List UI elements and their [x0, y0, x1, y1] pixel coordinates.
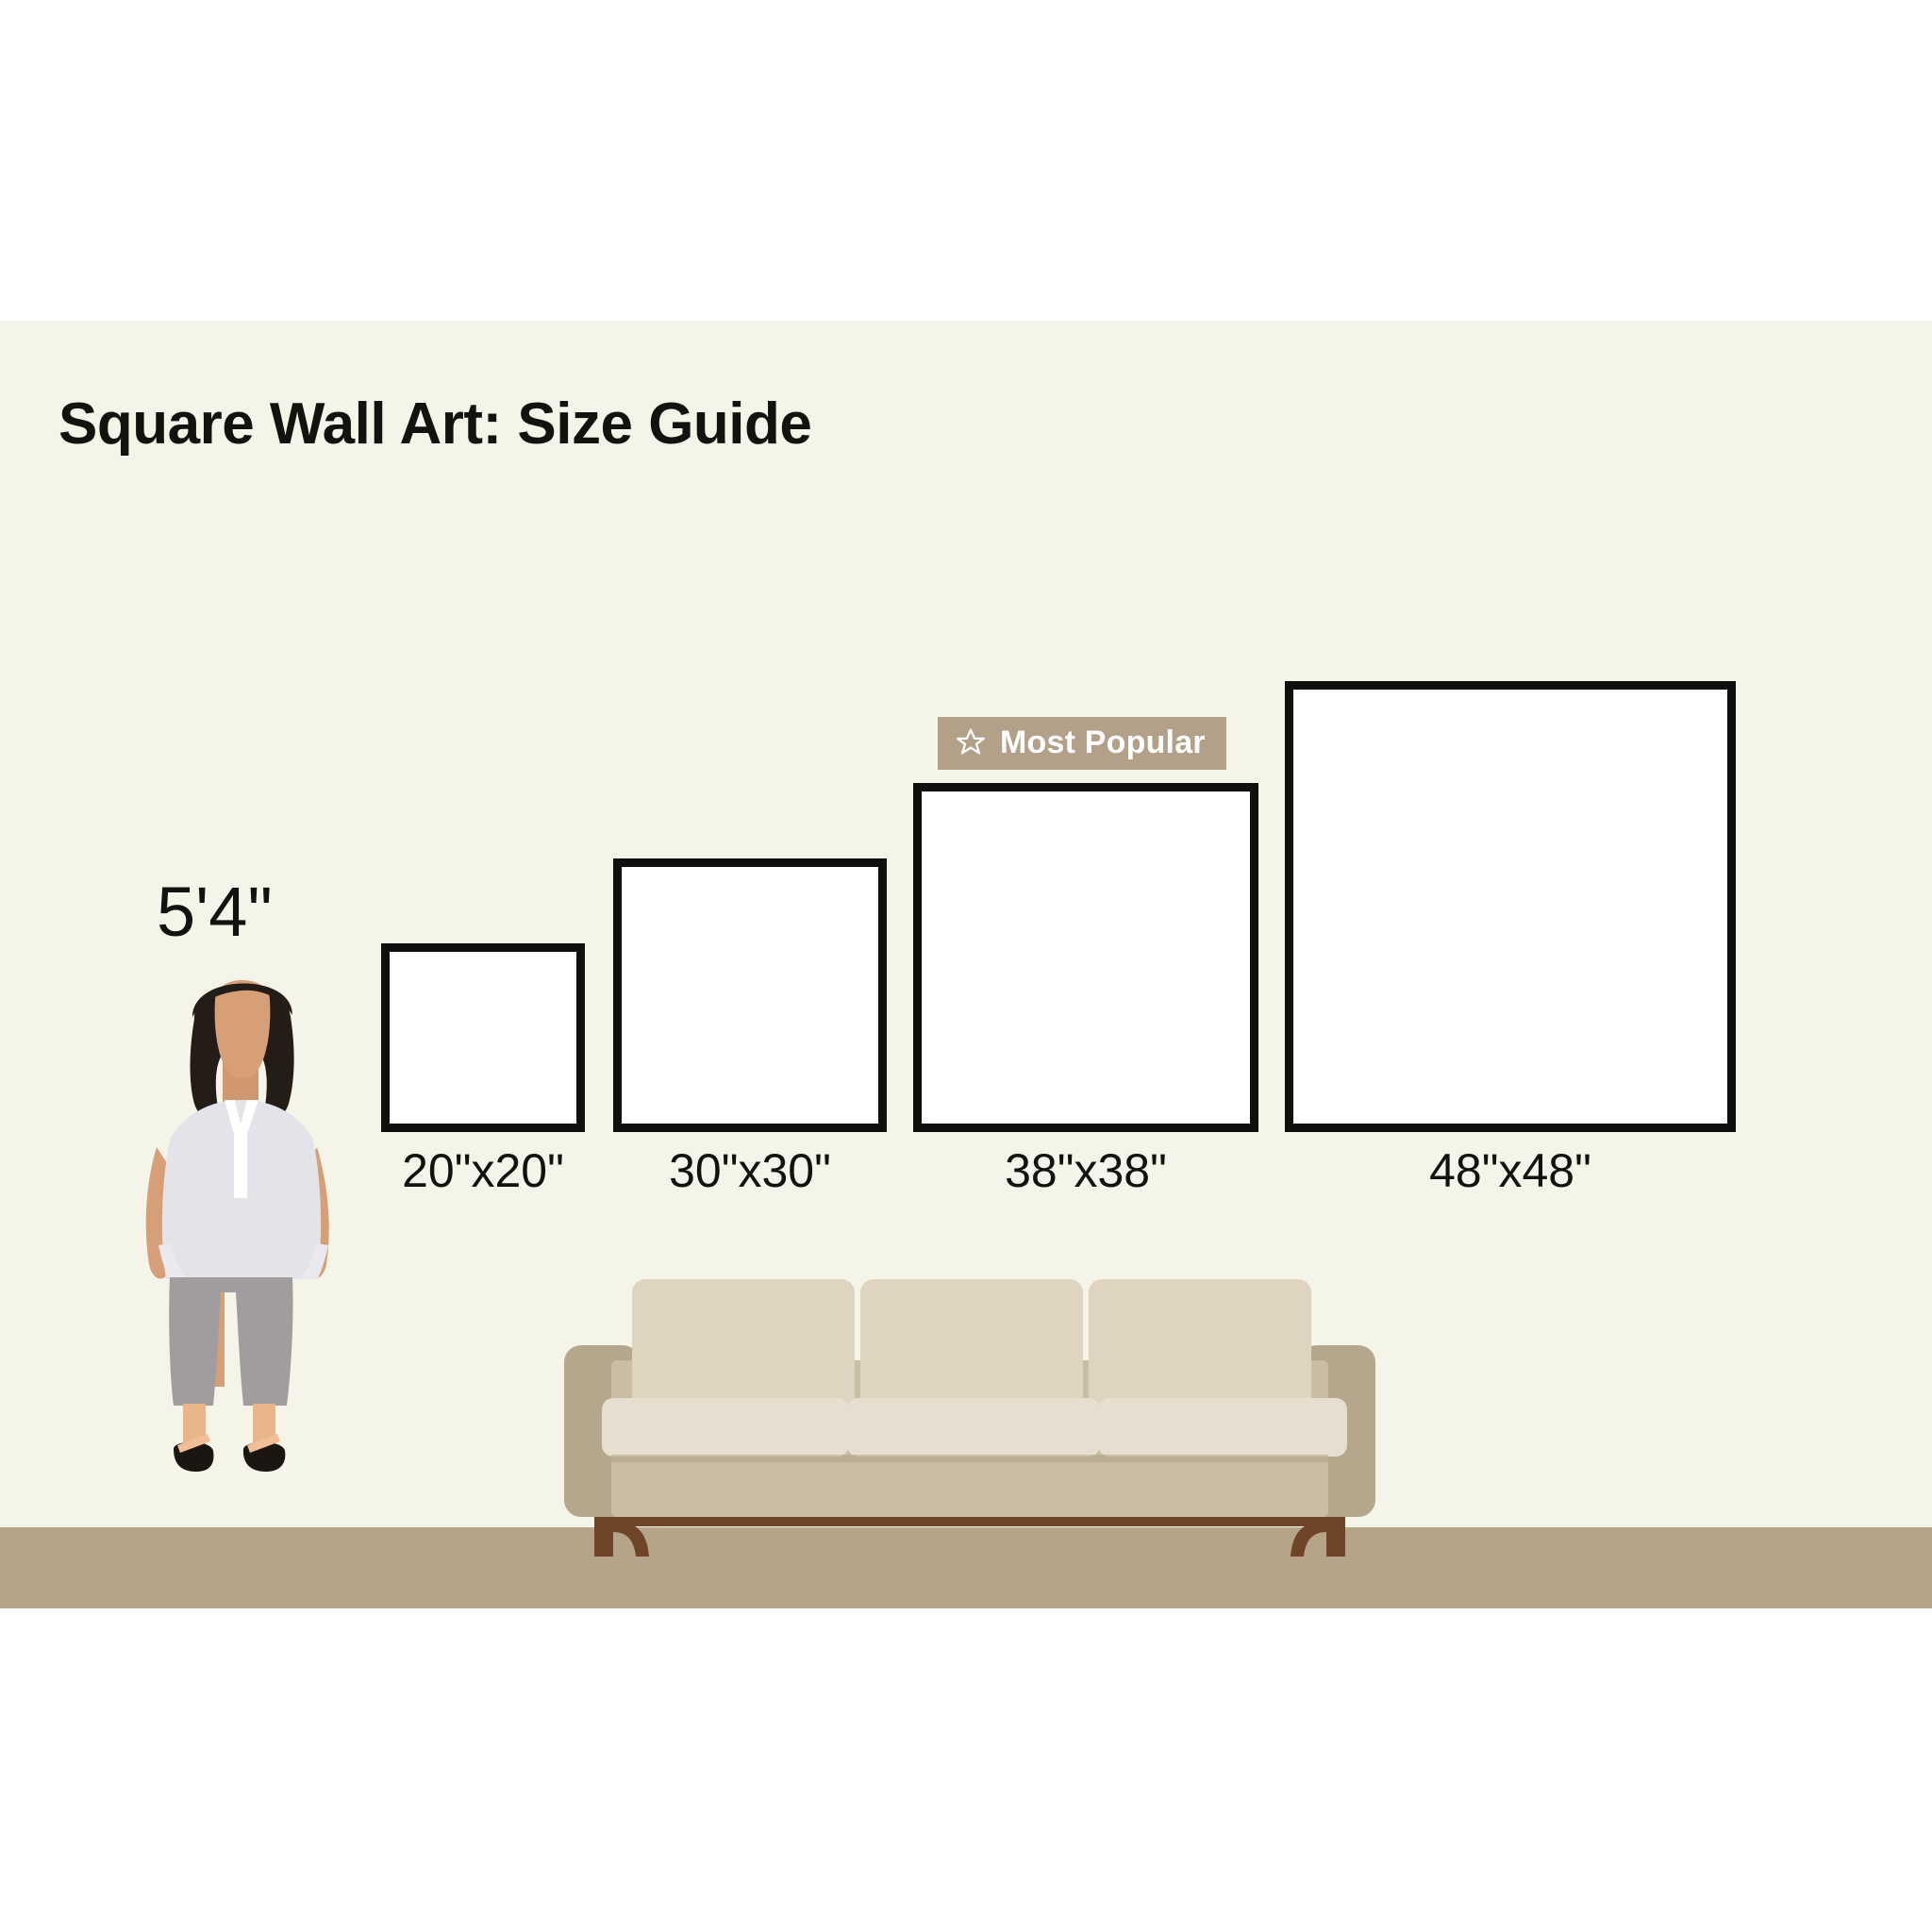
most-popular-label: Most Popular [1000, 726, 1206, 758]
art-frame-30[interactable] [613, 858, 887, 1132]
art-frame-20[interactable] [381, 943, 585, 1132]
size-label-48: 48"x48" [1285, 1143, 1736, 1198]
most-popular-badge[interactable]: Most Popular [938, 717, 1226, 770]
size-label-20: 20"x20" [381, 1143, 585, 1198]
person-figure [121, 962, 366, 1533]
person-height-label: 5'4" [157, 872, 273, 952]
art-frame-38[interactable] [913, 783, 1258, 1132]
art-frame-48[interactable] [1285, 681, 1736, 1132]
sofa [555, 1274, 1404, 1590]
size-label-30: 30"x30" [613, 1143, 887, 1198]
star-outline-icon [955, 726, 987, 758]
room-scene: Square Wall Art: Size Guide 5'4" [0, 321, 1932, 1608]
page-title: Square Wall Art: Size Guide [58, 391, 811, 458]
size-guide-infographic: Square Wall Art: Size Guide 5'4" [0, 0, 1932, 1932]
size-label-38: 38"x38" [913, 1143, 1258, 1198]
